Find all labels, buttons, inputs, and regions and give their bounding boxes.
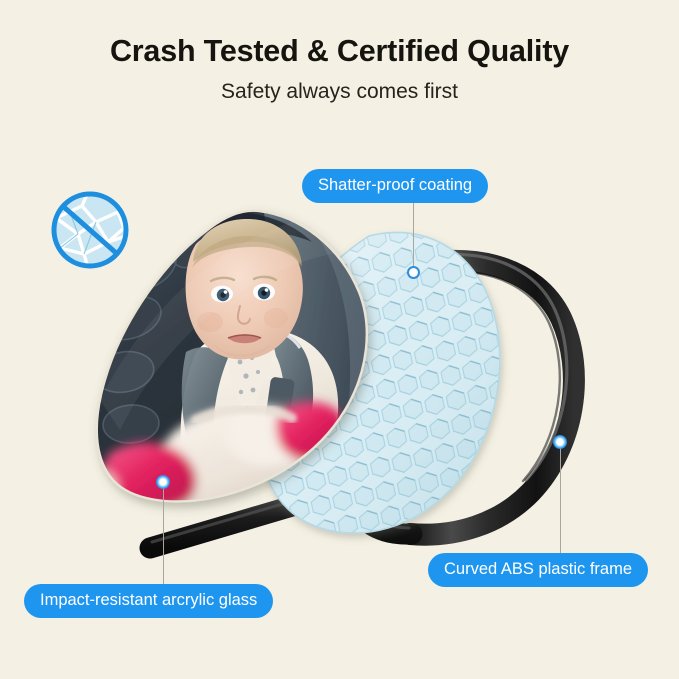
leader-line-acrylic-glass xyxy=(163,482,164,586)
infographic-canvas: Crash Tested & Certified Quality Safety … xyxy=(0,0,679,679)
page-title: Crash Tested & Certified Quality xyxy=(0,0,679,69)
callout-shatter-proof-coating: Shatter-proof coating xyxy=(302,169,488,203)
header: Crash Tested & Certified Quality Safety … xyxy=(0,0,679,104)
leader-line-abs-frame xyxy=(560,442,561,554)
textured-back-panel xyxy=(259,232,500,533)
no-shatter-glass-icon xyxy=(48,188,132,272)
marker-abs-frame xyxy=(553,435,567,449)
marker-acrylic-glass xyxy=(156,475,170,489)
callout-curved-abs-plastic-frame: Curved ABS plastic frame xyxy=(428,553,648,587)
marker-shatter-proof xyxy=(407,266,420,279)
curved-abs-frame xyxy=(150,254,574,548)
leader-line-shatter-proof xyxy=(413,198,414,272)
page-subtitle: Safety always comes first xyxy=(0,69,679,104)
callout-impact-resistant-acrylic-glass: Impact-resistant arcrylic glass xyxy=(24,584,273,618)
